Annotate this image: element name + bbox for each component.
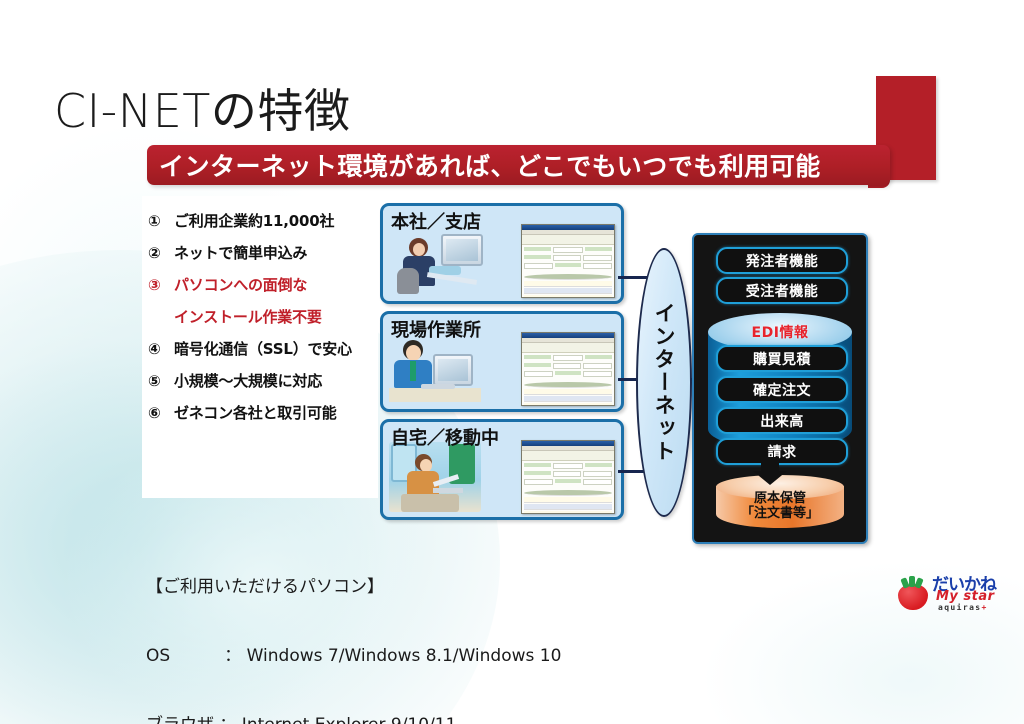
person-face <box>413 243 425 256</box>
keyboard <box>421 384 455 389</box>
feature-item-text: インストール作業不要 <box>174 306 322 327</box>
page-title: CI-NETの特徴 <box>54 88 350 134</box>
person-face <box>406 345 421 361</box>
edi-cylinder-label: EDI情報 <box>708 322 852 342</box>
access-panel-label: 現場作業所 <box>391 316 481 342</box>
monitor-group <box>441 234 479 264</box>
pill-supplier-function[interactable]: 受注者機能 <box>716 277 848 304</box>
logo-subbrand-text: aquiras <box>938 603 982 612</box>
edi-server-panel: 発注者機能 受注者機能 EDI情報 購買見積 確定注文 出来高 請求 原本保管 … <box>692 233 868 544</box>
feature-item-number: ⑥ <box>148 404 174 422</box>
access-panel-label: 本社／支店 <box>391 208 481 234</box>
spec-heading: 【ご利用いただけるパソコン】 <box>146 576 561 599</box>
necktie <box>410 361 416 381</box>
spec-browser-line: ブラウザ ： Internet Explorer 9/10/11 <box>146 714 561 724</box>
feature-list: ①ご利用企業約11,000社②ネットで簡単申込み③パソコンへの面倒なインストール… <box>148 210 373 434</box>
spec-block: 【ご利用いただけるパソコン】 OS ： Windows 7/Windows 8.… <box>146 530 561 724</box>
spec-os-line: OS ： Windows 7/Windows 8.1/Windows 10 <box>146 645 561 668</box>
feature-item: ④暗号化通信（SSL）で安心 <box>148 338 373 359</box>
logo-brand-en: My star <box>936 589 995 604</box>
feature-item: ③パソコンへの面倒な <box>148 274 373 295</box>
archive-label-line1: 原本保管 <box>716 491 844 506</box>
logo-plus-mark: + <box>982 603 988 612</box>
desk <box>389 388 481 402</box>
archive-label-line2: 「注文書等」 <box>716 506 844 521</box>
feature-item-text: ネットで簡単申込み <box>174 242 307 263</box>
pill-purchase-quotation[interactable]: 購買見積 <box>716 345 848 372</box>
laptop-base <box>433 488 463 493</box>
access-panel-site-office: 現場作業所 <box>380 311 624 412</box>
access-panel-headquarters: 本社／支店 <box>380 203 624 304</box>
pill-orderer-function[interactable]: 発注者機能 <box>716 247 848 274</box>
seat <box>401 494 459 512</box>
mini-browser-screenshot <box>521 224 615 298</box>
pill-confirmed-order[interactable]: 確定注文 <box>716 376 848 403</box>
access-panel-label: 自宅／移動中 <box>391 424 499 450</box>
headline-banner: インターネット環境があれば、どこでもいつでも利用可能 <box>147 145 890 185</box>
feature-item-text: 暗号化通信（SSL）で安心 <box>174 338 352 359</box>
feature-item: インストール作業不要 <box>148 306 373 327</box>
logo-subbrand: aquiras+ <box>938 603 988 612</box>
feature-item-text: ゼネコン各社と取引可能 <box>174 402 337 423</box>
mini-browser-screenshot <box>521 440 615 514</box>
feature-item-number: ② <box>148 244 174 262</box>
monitor <box>433 354 473 386</box>
feature-item-number: ⑤ <box>148 372 174 390</box>
internet-cloud-oval: インターネット <box>636 248 692 517</box>
access-panel-home-mobile: 自宅／移動中 <box>380 419 624 520</box>
feature-item: ①ご利用企業約11,000社 <box>148 210 373 231</box>
pill-progress-volume[interactable]: 出来高 <box>716 407 848 434</box>
company-logo: だいかね My star aquiras+ <box>896 566 1014 614</box>
pill-invoice[interactable]: 請求 <box>716 438 848 465</box>
chair <box>397 268 419 294</box>
feature-item-text: パソコンへの面倒な <box>174 274 307 295</box>
feature-item-text: ご利用企業約11,000社 <box>174 210 334 231</box>
illustration-train-commuter <box>389 442 481 512</box>
illustration-site-worker <box>389 334 481 404</box>
feature-item-number: ③ <box>148 276 174 294</box>
feature-item-number: ④ <box>148 340 174 358</box>
illustration-office-worker <box>389 226 481 296</box>
internet-label: インターネット <box>638 250 690 515</box>
feature-item: ⑤小規模〜大規模に対応 <box>148 370 373 391</box>
feature-item-text: 小規模〜大規模に対応 <box>174 370 322 391</box>
feature-item: ②ネットで簡単申込み <box>148 242 373 263</box>
strawberry-icon <box>896 576 930 608</box>
feature-item-number: ① <box>148 212 174 230</box>
slide-canvas: CI-NETの特徴 インターネット環境があれば、どこでもいつでも利用可能 ①ご利… <box>0 0 1024 724</box>
headline-banner-text: インターネット環境があれば、どこでもいつでも利用可能 <box>159 147 821 183</box>
feature-item: ⑥ゼネコン各社と取引可能 <box>148 402 373 423</box>
archive-cylinder-label: 原本保管 「注文書等」 <box>716 491 844 521</box>
mini-browser-screenshot <box>521 332 615 406</box>
